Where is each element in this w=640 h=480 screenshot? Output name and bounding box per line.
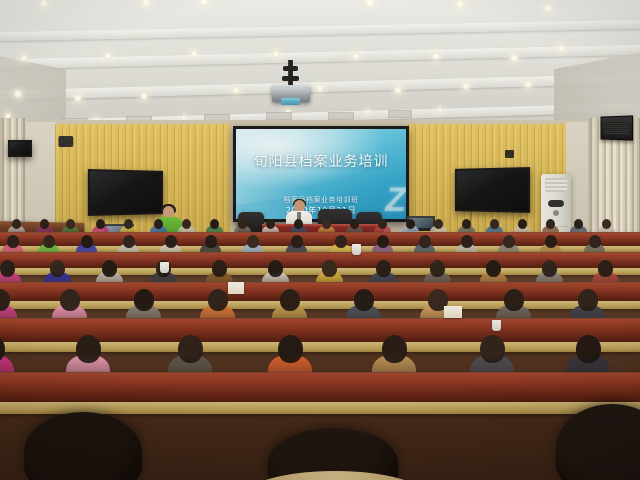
ceiling-downlight (365, 0, 375, 7)
ceiling-downlight (39, 0, 49, 8)
audience-head (354, 289, 374, 311)
bench-row (0, 372, 640, 403)
audience-head (542, 260, 557, 277)
audience-head (322, 219, 331, 229)
audience-head (377, 235, 389, 248)
ceiling-downlight (365, 109, 371, 115)
audience-head (578, 289, 598, 311)
audience-head (503, 235, 515, 248)
audience-head (419, 235, 431, 248)
desk-surface (0, 301, 640, 309)
audience-head (102, 260, 117, 277)
ac-vent-slot (548, 200, 564, 207)
tv-screen (457, 169, 528, 211)
audience-head (598, 260, 613, 277)
ceiling-downlight (557, 44, 565, 52)
audience-head (134, 289, 154, 311)
ceiling-downlight (352, 52, 360, 60)
audience-head (518, 219, 527, 229)
ceiling (0, 0, 640, 138)
wall-speaker-left (58, 136, 73, 147)
ceiling-downlight (14, 90, 22, 98)
audience-head (291, 235, 303, 248)
projection-screen: Z 旬阳县档案业务培训 档案局档案业务培训班 2010年10月21日 (233, 126, 409, 222)
audience-head (50, 260, 65, 277)
ceiling-beam (0, 17, 640, 44)
paper-cup (352, 244, 361, 255)
audience-head (123, 235, 135, 248)
audience-head (268, 260, 283, 277)
audience-head (40, 219, 49, 229)
audience-head (462, 219, 471, 229)
audience-head (96, 219, 105, 229)
ceiling-downlight (232, 86, 240, 94)
audience-head (589, 235, 601, 248)
audience-head (376, 260, 391, 277)
slide-subtitle: 档案局档案业务培训班 (236, 195, 406, 205)
audience-head (574, 219, 583, 229)
audience-head (545, 235, 557, 248)
ceiling-downlight (74, 94, 82, 102)
audience-head (208, 289, 228, 311)
audience-head (205, 235, 217, 248)
ceiling-downlight (437, 107, 443, 113)
bench-row (0, 282, 640, 302)
projector-lens-icon (281, 98, 300, 105)
audience-head (546, 219, 555, 229)
audience-head (182, 219, 191, 229)
ceiling-downlight (394, 86, 402, 94)
audience-head (81, 235, 93, 248)
audience-head (238, 219, 247, 229)
wall-tv-left (88, 169, 163, 216)
audience-head (430, 260, 445, 277)
audience-head (247, 235, 259, 248)
audience-head (124, 219, 133, 229)
ceiling-downlight (455, 0, 465, 9)
wall-monitor-small (8, 140, 32, 157)
ceiling-downlight (462, 82, 470, 90)
audience-head (602, 219, 611, 229)
audience-head (378, 219, 387, 229)
projector-mount (288, 60, 293, 86)
audience-head (7, 235, 19, 248)
audience-head (280, 289, 300, 311)
audience-head (178, 335, 203, 363)
audience-head (278, 335, 303, 363)
audience-head (165, 235, 177, 248)
ceiling-vent (266, 112, 292, 120)
audience-head (480, 335, 505, 363)
audience-head (212, 260, 227, 277)
paper-cup (160, 262, 169, 273)
wall-tv-right (455, 167, 530, 213)
audience-head (335, 235, 347, 248)
audience-head (43, 235, 55, 248)
projection-screen-surface: Z 旬阳县档案业务培训 档案局档案业务培训班 2010年10月21日 (236, 129, 406, 219)
audience-head (486, 260, 501, 277)
wall-speaker-right (601, 115, 633, 140)
ceiling-downlight (20, 54, 28, 62)
paper-handout (228, 282, 244, 294)
ceiling-downlight (190, 50, 198, 58)
tv-screen (10, 142, 30, 155)
audience-head (294, 219, 303, 229)
ceiling-downlight (140, 92, 148, 100)
audience-head (0, 260, 15, 277)
ceiling-downlight (432, 52, 440, 60)
ceiling-downlight (199, 0, 209, 6)
audience-head (66, 219, 75, 229)
audience-head (12, 219, 21, 229)
slide-title: 旬阳县档案业务培训 (236, 151, 406, 171)
paper-handout (444, 306, 462, 318)
audience-head (322, 260, 337, 277)
audience-head (490, 219, 499, 229)
ceiling-beam (0, 42, 640, 73)
ceiling-downlight (316, 84, 324, 92)
ceiling-downlight (524, 80, 532, 88)
ceiling-downlight (543, 3, 553, 13)
audience-head (266, 219, 275, 229)
ceiling-vent (328, 112, 354, 120)
audience-head (406, 219, 415, 229)
wall-outlet-box (505, 150, 514, 158)
ac-logo-icon (553, 210, 559, 216)
ceiling-downlight (104, 52, 112, 60)
conference-hall-photo: Z 旬阳县档案业务培训 档案局档案业务培训班 2010年10月21日 (0, 0, 640, 480)
ceiling-vent (388, 110, 412, 118)
tv-screen (90, 171, 161, 214)
ceiling-downlight (272, 50, 280, 58)
audience-head (382, 335, 407, 363)
audience-head (504, 289, 524, 311)
audience-head (210, 219, 219, 229)
ceiling-downlight (510, 54, 518, 62)
speaker-grill-icon (604, 121, 629, 136)
audience-head (350, 219, 359, 229)
audience-head (76, 335, 101, 363)
ac-grille-icon (545, 178, 567, 192)
audience-head (434, 219, 443, 229)
paper-cup (492, 320, 501, 331)
ceiling-downlight (141, 0, 151, 7)
audience-head (60, 289, 80, 311)
audience-head (461, 235, 473, 248)
audience-head (154, 219, 163, 229)
audience-head (576, 335, 601, 363)
